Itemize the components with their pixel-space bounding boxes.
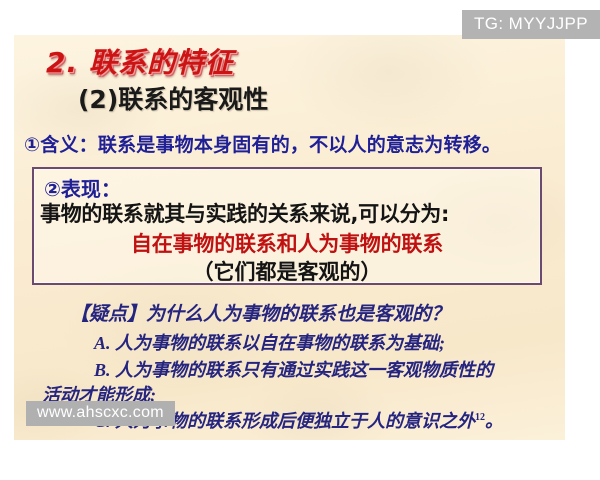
title-row: 2. 联系的特征 xyxy=(46,41,234,81)
page-subtitle: (2)联系的客观性 xyxy=(78,80,268,116)
qa-answer-a: A. 人为事物的联系以自在事物的联系为基础; xyxy=(94,329,445,355)
watermark-bottom-left: www.ahscxc.com xyxy=(26,401,175,426)
qa-answer-b-line1: B. 人为事物的联系只有通过实践这一客观物质性的 xyxy=(94,356,493,382)
fact-box: ②表现： 事物的联系就其与实践的关系来说,可以分为: 自在事物的联系和人为事物的… xyxy=(32,167,542,285)
fact-box-statement: 事物的联系就其与实践的关系来说,可以分为: xyxy=(40,198,449,228)
qa-answer-c-superscript: 12 xyxy=(475,412,485,423)
watermark-top-right: TG: MYYJJPP xyxy=(462,10,600,39)
qa-question: 【疑点】为什么人为事物的联系也是客观的？ xyxy=(70,299,450,326)
qa-answer-c-tail: 。 xyxy=(485,411,503,431)
fact-box-highlight: 自在事物的联系和人为事物的联系 xyxy=(34,228,540,258)
meaning-line: ①含义：联系是事物本身固有的，不以人的意志为转移。 xyxy=(24,130,501,157)
fact-box-note: （它们都是客观的） xyxy=(34,256,540,286)
page-title: 2. 联系的特征 xyxy=(46,46,234,79)
slide-canvas: 2. 联系的特征 (2)联系的客观性 ①含义：联系是事物本身固有的，不以人的意志… xyxy=(14,35,565,440)
